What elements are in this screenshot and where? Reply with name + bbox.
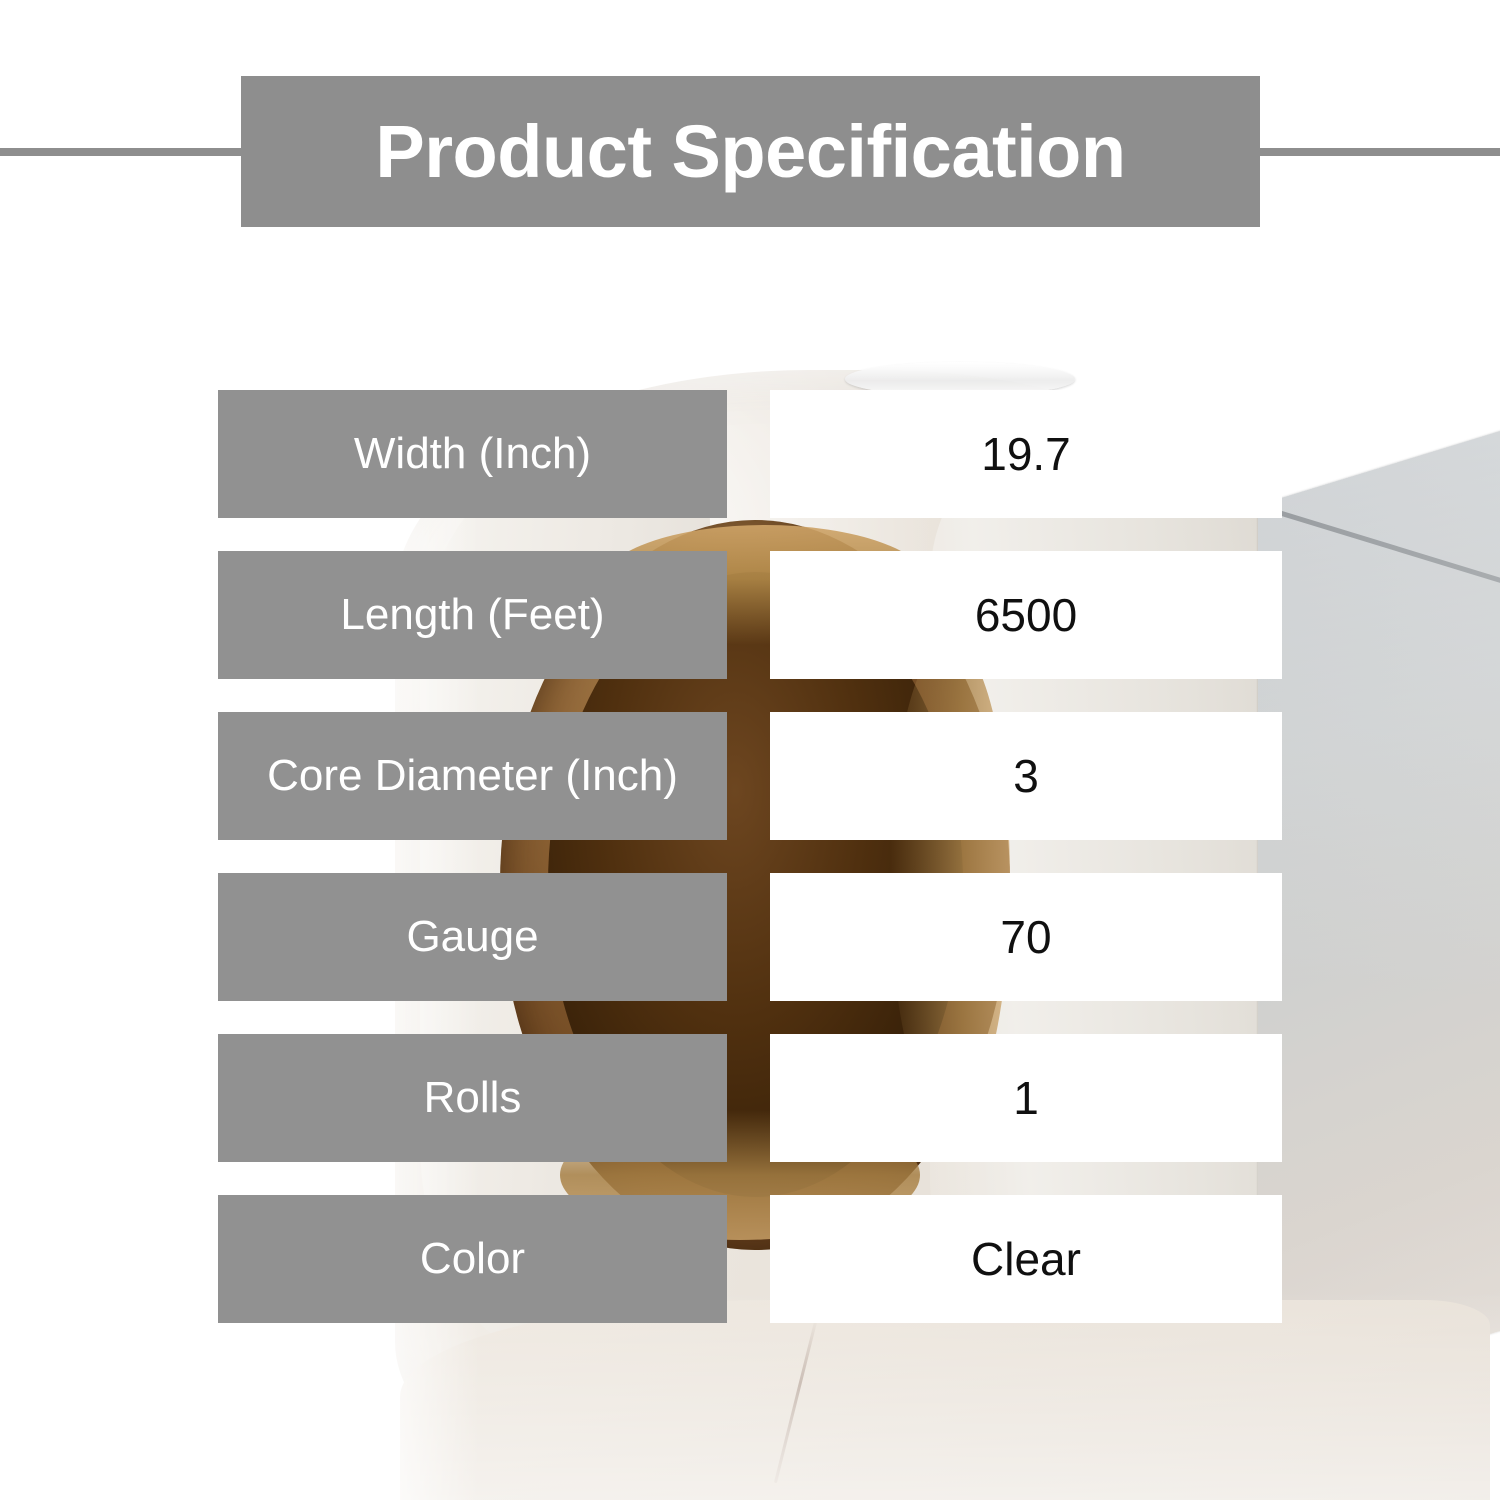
table-row: Color Clear (218, 1195, 1282, 1323)
spec-label-length: Length (Feet) (218, 551, 727, 679)
table-row: Length (Feet) 6500 (218, 551, 1282, 679)
spec-value-length: 6500 (770, 551, 1282, 679)
specification-table: Width (Inch) 19.7 Length (Feet) 6500 Cor… (218, 390, 1282, 1323)
table-row: Core Diameter (Inch) 3 (218, 712, 1282, 840)
spec-value-width: 19.7 (770, 390, 1282, 518)
spec-label-width: Width (Inch) (218, 390, 727, 518)
spec-label-gauge: Gauge (218, 873, 727, 1001)
roll-bottom-sweep (400, 1300, 1490, 1500)
header-rule-right (1258, 148, 1500, 156)
table-row: Rolls 1 (218, 1034, 1282, 1162)
spec-value-core-diameter: 3 (770, 712, 1282, 840)
spec-value-color: Clear (770, 1195, 1282, 1323)
page-title: Product Specification (375, 115, 1125, 189)
film-sheet-panel (1258, 377, 1500, 1405)
spec-label-core-diameter: Core Diameter (Inch) (218, 712, 727, 840)
spec-value-gauge: 70 (770, 873, 1282, 1001)
header-rule-left (0, 148, 244, 156)
table-row: Width (Inch) 19.7 (218, 390, 1282, 518)
spec-label-rolls: Rolls (218, 1034, 727, 1162)
page-title-banner: Product Specification (241, 76, 1260, 227)
table-row: Gauge 70 (218, 873, 1282, 1001)
spec-label-color: Color (218, 1195, 727, 1323)
product-specification-page: Product Specification Width (Inch) 19.7 … (0, 0, 1500, 1500)
spec-value-rolls: 1 (770, 1034, 1282, 1162)
